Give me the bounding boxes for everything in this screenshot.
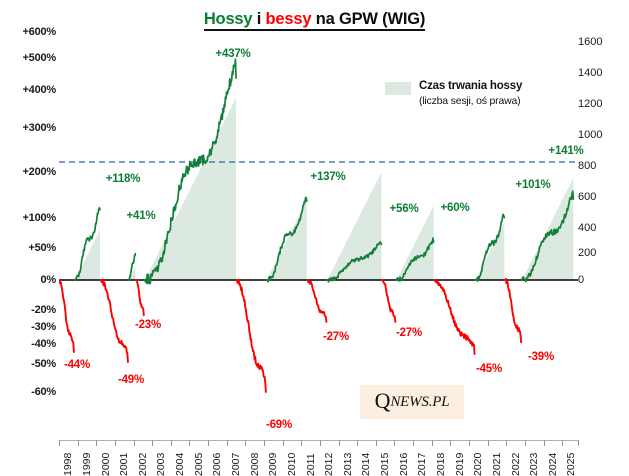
bear-label-44-0: -44% (64, 359, 90, 371)
x-tick-mark-2006 (208, 440, 209, 446)
x-tick-mark-2003 (152, 440, 153, 446)
bear-label-27-4: -27% (323, 331, 349, 343)
y-tick-left-2: +400% (22, 84, 56, 96)
x-tick-mark-2023 (525, 440, 526, 446)
x-tick-2006: 2006 (211, 442, 223, 476)
x-axis: 1998199920002001200220032004200520062007… (0, 440, 629, 476)
y-tick-left-8: -20% (31, 304, 56, 316)
y-tick-right-8: 0 (578, 274, 584, 286)
x-tick-2002: 2002 (137, 442, 149, 476)
x-tick-mark-2020 (469, 440, 470, 446)
y-tick-left-11: -50% (31, 358, 56, 370)
logo-rest: NEWS.PL (390, 394, 449, 410)
x-tick-2016: 2016 (398, 442, 410, 476)
y-tick-left-5: +100% (22, 212, 56, 224)
x-tick-mark-2018 (432, 440, 433, 446)
x-tick-2000: 2000 (100, 442, 112, 476)
legend-label-primary: Czas trwania hossy (419, 79, 522, 94)
x-tick-2019: 2019 (454, 442, 466, 476)
bear-label-69-3: -69% (266, 419, 292, 431)
y-axis-right: 16001400120010008006004002000 (578, 0, 629, 476)
x-tick-2017: 2017 (416, 442, 428, 476)
x-tick-2020: 2020 (472, 442, 484, 476)
x-tick-mark-2019 (450, 440, 451, 446)
bear-label-39-7: -39% (528, 351, 554, 363)
bear-label-49-1: -49% (118, 374, 144, 386)
x-tick-mark-2004 (171, 440, 172, 446)
x-tick-2021: 2021 (491, 442, 503, 476)
legend-swatch-duration (385, 82, 411, 95)
logo-letter-q: Q (375, 388, 391, 413)
y-tick-right-7: 200 (578, 247, 596, 259)
x-tick-mark-2007 (227, 440, 228, 446)
x-tick-2024: 2024 (547, 442, 559, 476)
x-tick-2003: 2003 (155, 442, 167, 476)
x-tick-1999: 1999 (81, 442, 93, 476)
bull-label-60-5: +60% (441, 202, 470, 214)
x-tick-mark-2014 (357, 440, 358, 446)
x-tick-1998: 1998 (62, 442, 74, 476)
x-tick-2001: 2001 (118, 442, 130, 476)
x-tick-2007: 2007 (230, 442, 242, 476)
x-tick-mark-2011 (301, 440, 302, 446)
x-tick-2011: 2011 (305, 442, 317, 476)
y-tick-left-3: +300% (22, 122, 56, 134)
bull-label-56-4: +56% (390, 203, 419, 215)
y-axis-left: +600%+500%+400%+300%+200%+100%+50%0%-20%… (0, 0, 56, 476)
x-tick-2023: 2023 (528, 442, 540, 476)
y-tick-right-6: 400 (578, 222, 596, 234)
bull-label-137-3: +137% (310, 171, 345, 183)
x-tick-mark-end (578, 440, 579, 446)
bear-label-45-6: -45% (476, 363, 502, 375)
x-tick-mark-2021 (488, 440, 489, 446)
x-tick-2004: 2004 (174, 442, 186, 476)
y-tick-left-12: -60% (31, 386, 56, 398)
legend-label-secondary: (liczba sesji, oś prawa) (419, 94, 522, 108)
x-tick-mark-2013 (339, 440, 340, 446)
y-tick-left-10: -40% (31, 338, 56, 350)
x-tick-mark-2001 (115, 440, 116, 446)
x-tick-2009: 2009 (267, 442, 279, 476)
y-tick-right-4: 800 (578, 160, 596, 172)
x-tick-2025: 2025 (565, 442, 577, 476)
x-tick-2005: 2005 (193, 442, 205, 476)
y-tick-right-2: 1200 (578, 98, 602, 110)
x-tick-mark-1999 (78, 440, 79, 446)
x-tick-2018: 2018 (435, 442, 447, 476)
x-tick-2022: 2022 (510, 442, 522, 476)
x-tick-mark-2008 (245, 440, 246, 446)
y-tick-right-1: 1400 (578, 67, 602, 79)
chart-canvas: Hossy i bessy na GPW (WIG) +600%+500%+40… (0, 0, 629, 476)
y-tick-left-0: +600% (22, 26, 56, 38)
x-tick-mark-2015 (376, 440, 377, 446)
y-tick-left-6: +50% (28, 242, 56, 254)
bull-label-141-7: +141% (548, 145, 583, 157)
bear-label-23-2: -23% (135, 319, 161, 331)
x-tick-mark-2010 (283, 440, 284, 446)
bear-label-27-5: -27% (396, 327, 422, 339)
x-tick-mark-2000 (96, 440, 97, 446)
x-tick-2013: 2013 (342, 442, 354, 476)
x-tick-2008: 2008 (249, 442, 261, 476)
legend: Czas trwania hossy (liczba sesji, oś pra… (385, 79, 522, 108)
y-tick-left-4: +200% (22, 166, 56, 178)
y-tick-right-5: 600 (578, 191, 596, 203)
x-tick-2015: 2015 (379, 442, 391, 476)
qnews-logo: QNEWS.PL (360, 385, 464, 419)
x-tick-2012: 2012 (323, 442, 335, 476)
x-tick-mark-2024 (544, 440, 545, 446)
bull-label-101-6: +101% (515, 179, 550, 191)
logo-text: QNEWS.PL (375, 394, 450, 411)
x-tick-mark-2025 (562, 440, 563, 446)
y-tick-right-0: 1600 (578, 36, 602, 48)
x-tick-mark-2012 (320, 440, 321, 446)
y-tick-right-3: 1000 (578, 129, 602, 141)
x-tick-mark-2002 (134, 440, 135, 446)
bull-label-41-1: +41% (127, 210, 156, 222)
x-tick-2010: 2010 (286, 442, 298, 476)
bull-label-118-0: +118% (106, 173, 141, 185)
x-tick-mark-2016 (394, 440, 395, 446)
x-tick-2014: 2014 (360, 442, 372, 476)
duration-wedges (75, 98, 574, 280)
x-tick-mark-2009 (264, 440, 265, 446)
x-tick-mark-2022 (506, 440, 507, 446)
x-tick-mark-1998 (59, 440, 60, 446)
x-tick-mark-2017 (413, 440, 414, 446)
y-tick-left-9: -30% (31, 321, 56, 333)
bull-label-437-2: +437% (215, 48, 250, 60)
y-tick-left-1: +500% (22, 52, 56, 64)
x-tick-mark-2005 (189, 440, 190, 446)
x-axis-line (59, 440, 578, 441)
y-tick-left-7: 0% (41, 274, 57, 286)
